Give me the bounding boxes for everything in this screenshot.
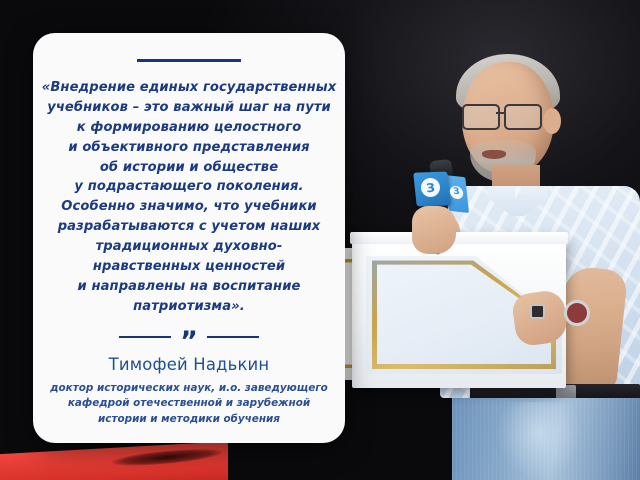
jeans-highlight [496, 402, 582, 480]
text-line: патриотизма». [42, 297, 337, 317]
quote-card: «Внедрение единых государственныхучебник… [33, 33, 345, 443]
text-line: к формированию целостного [42, 118, 337, 138]
author-title: доктор исторических наук, и.о. заведующе… [50, 381, 328, 428]
finger-ring [530, 304, 545, 319]
quote-card-graphic: З З «Внедрение единых государственныхуче… [0, 0, 640, 480]
eyeglass-lens-left [462, 104, 500, 130]
text-line: кафедрой отечественной и зарубежной [50, 396, 328, 412]
speaker-mouth [482, 150, 506, 159]
podium-top-edge [350, 232, 568, 244]
text-line: и объективного представления [42, 138, 337, 158]
divider-dash-left [119, 336, 171, 338]
top-divider-rule [137, 59, 241, 62]
text-line: и направлены на воспитание [42, 277, 337, 297]
author-name: Тимофей Надькин [109, 355, 270, 374]
text-line: «Внедрение единых государственных [42, 78, 337, 98]
text-line: разрабатываются с учетом наших [42, 217, 337, 237]
divider-dash-right [207, 336, 259, 338]
speaker-hand-holding-microphone [412, 206, 456, 254]
eyeglass-lens-right [504, 104, 542, 130]
text-line: нравственных ценностей [42, 257, 337, 277]
closing-quote-icon: ” [180, 335, 198, 350]
text-line: традиционных духовно- [42, 237, 337, 257]
text-line: у подрастающего поколения. [42, 177, 337, 197]
text-line: об истории и обществе [42, 158, 337, 178]
text-line: учебников – это важный шаг на пути [42, 98, 337, 118]
text-line: доктор исторических наук, и.о. заведующе… [50, 381, 328, 397]
eyeglasses [462, 104, 546, 126]
quote-mark-divider: ” [49, 330, 329, 345]
text-line: Особенно значимо, что учебники [42, 197, 337, 217]
quote-text: «Внедрение единых государственныхучебник… [40, 78, 339, 317]
text-line: истории и методики обучения [50, 412, 328, 428]
